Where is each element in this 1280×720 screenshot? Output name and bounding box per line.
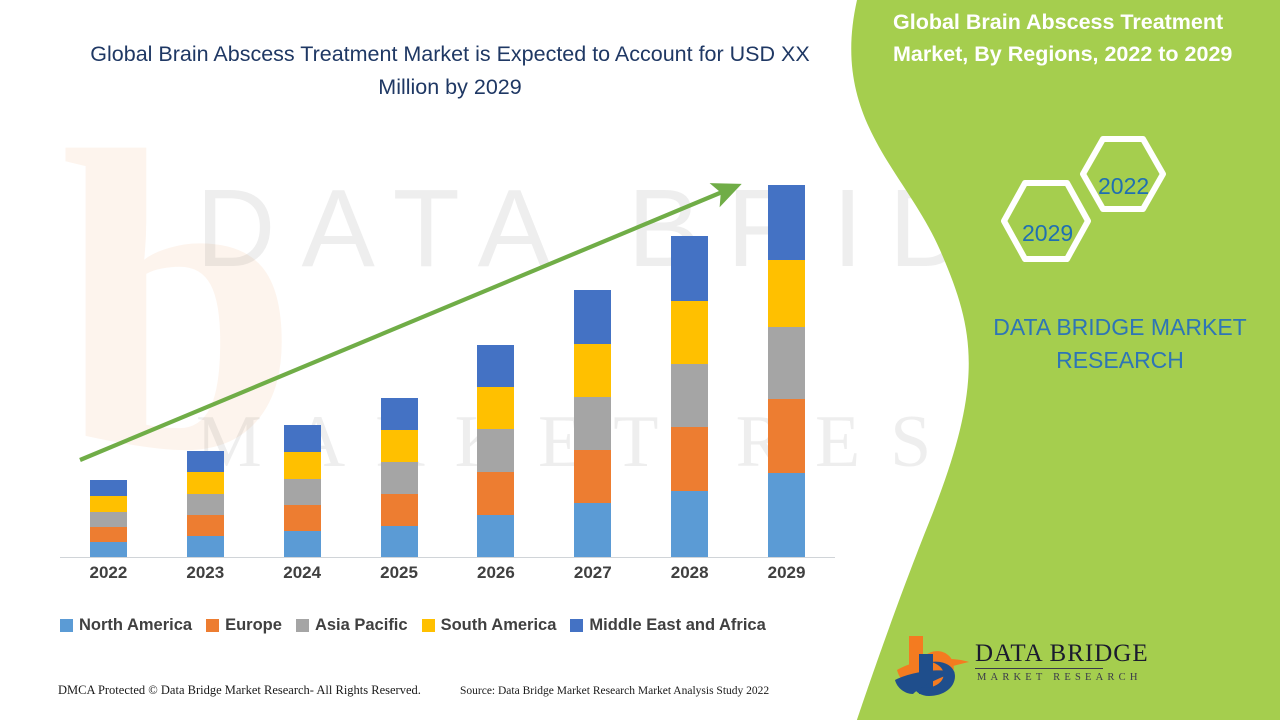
hexagon-badge-2022-label: 2022 — [1098, 173, 1149, 200]
infographic-root: b DATA BRIDGE MARKET RESEARCH Global Bra… — [0, 0, 1280, 720]
brand-name-text: DATA BRIDGE MARKET RESEARCH — [960, 311, 1280, 376]
panel-title: Global Brain Abscess Treatment Market, B… — [893, 6, 1265, 71]
logo-wordmark: DATA BRIDGE — [975, 640, 1149, 668]
hexagon-badge-2029-label: 2029 — [1022, 220, 1073, 247]
logo-divider — [975, 668, 1103, 669]
hexagon-badges — [985, 135, 1185, 275]
logo-tagline: MARKET RESEARCH — [977, 672, 1142, 683]
